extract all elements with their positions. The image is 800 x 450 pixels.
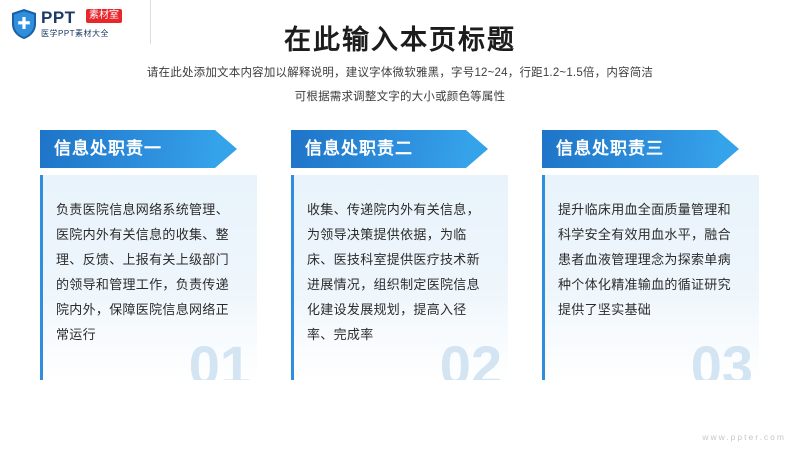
ribbon-label: 信息处职责一 (54, 130, 162, 168)
panel-index-number: 01 (189, 338, 251, 380)
ribbon-banner: 信息处职责三 (542, 130, 742, 168)
content-column: 信息处职责三 提升临床用血全面质量管理和科学安全有效用血水平，融合患者血液管理理… (542, 130, 759, 380)
content-panel: 负责医院信息网络系统管理、医院内外有关信息的收集、整理、反馈、上报有关上级部门的… (40, 175, 257, 380)
content-panel: 收集、传递院内外有关信息，为领导决策提供依据，为临床、医技科室提供医疗技术新进展… (291, 175, 508, 380)
page-subtitle-line-1: 请在此处添加文本内容加以解释说明，建议字体微软雅黑，字号12~24，行距1.2~… (0, 64, 800, 80)
panel-accent-bar (542, 175, 545, 380)
ribbon-arrow (215, 130, 237, 168)
ribbon-banner: 信息处职责二 (291, 130, 491, 168)
panel-index-number: 03 (691, 338, 753, 380)
content-column: 信息处职责二 收集、传递院内外有关信息，为领导决策提供依据，为临床、医技科室提供… (291, 130, 508, 380)
panel-accent-bar (40, 175, 43, 380)
page-title: 在此输入本页标题 (0, 18, 800, 57)
content-panel: 提升临床用血全面质量管理和科学安全有效用血水平，融合患者血液管理理念为探索单病种… (542, 175, 759, 380)
panel-accent-bar (291, 175, 294, 380)
page-subtitle-line-2: 可根据需求调整文字的大小或颜色等属性 (0, 88, 800, 104)
panel-index-number: 02 (440, 338, 502, 380)
ribbon-label: 信息处职责三 (556, 130, 664, 168)
footer-watermark: www.ppter.com (702, 432, 786, 442)
ribbon-arrow (717, 130, 739, 168)
ribbon-label: 信息处职责二 (305, 130, 413, 168)
ribbon-arrow (466, 130, 488, 168)
panel-body-text: 负责医院信息网络系统管理、医院内外有关信息的收集、整理、反馈、上报有关上级部门的… (56, 197, 242, 347)
panel-body-text: 提升临床用血全面质量管理和科学安全有效用血水平，融合患者血液管理理念为探索单病种… (558, 197, 744, 322)
ribbon-banner: 信息处职责一 (40, 130, 240, 168)
panel-body-text: 收集、传递院内外有关信息，为领导决策提供依据，为临床、医技科室提供医疗技术新进展… (307, 197, 493, 347)
content-column: 信息处职责一 负责医院信息网络系统管理、医院内外有关信息的收集、整理、反馈、上报… (40, 130, 257, 380)
